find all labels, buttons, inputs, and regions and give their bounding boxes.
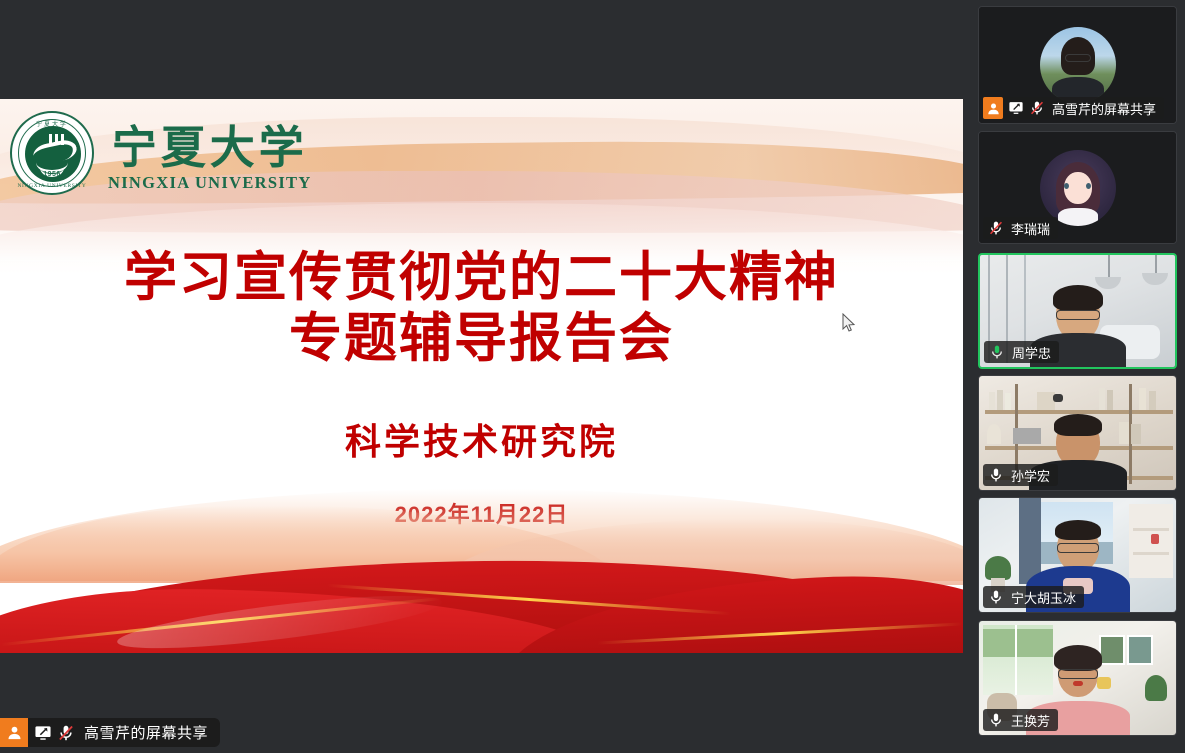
slide-title: 学习宣传贯彻党的二十大精神 专题辅导报告会 — [0, 247, 963, 370]
participant-name-bar: 孙学宏 — [983, 464, 1058, 486]
mic-muted-icon — [57, 724, 75, 742]
participant-name: 宁大胡玉冰 — [1011, 588, 1076, 607]
participant-name: 周学忠 — [1012, 343, 1051, 362]
participant-name-bar: 李瑞瑞 — [983, 217, 1058, 239]
participant-name: 李瑞瑞 — [1011, 219, 1050, 238]
screen-share-icon — [1007, 99, 1025, 117]
mic-muted-icon — [1028, 99, 1046, 117]
participant-name-bar: 高雪芹的屏幕共享 — [983, 97, 1164, 119]
slide-bottom-decoration — [0, 453, 963, 653]
participant-tile-wanghuanfang[interactable]: 王换芳 — [978, 620, 1177, 736]
avatar — [1040, 27, 1116, 103]
slide-title-line-1: 学习宣传贯彻党的二十大精神 — [0, 247, 963, 308]
seal-arc-text: NINGXIA UNIVERSITY — [12, 183, 92, 189]
participant-tile-liruirui[interactable]: 李瑞瑞 — [978, 131, 1177, 244]
participant-tile-huyubing[interactable]: 宁大胡玉冰 — [978, 497, 1177, 613]
avatar — [1040, 150, 1116, 226]
participant-tile-zhouxuezhong[interactable]: 周学忠 — [978, 253, 1177, 369]
university-name-en: NINGXIA UNIVERSITY — [108, 173, 312, 193]
participant-name: 王换芳 — [1011, 711, 1050, 730]
screen-share-status-bar[interactable]: 高雪芹的屏幕共享 — [0, 718, 220, 747]
participant-tile-gaoxueqin[interactable]: 高雪芹的屏幕共享 — [978, 6, 1177, 124]
participant-name-bar: 宁大胡玉冰 — [983, 586, 1084, 608]
shared-screen-stage[interactable]: 宁夏大学 1956 NINGXIA UNIVERSITY 宁夏大学 NINGXI… — [0, 0, 963, 753]
participant-name-bar: 周学忠 — [984, 341, 1059, 363]
mic-muted-icon — [987, 219, 1005, 237]
university-seal-icon: 宁夏大学 1956 NINGXIA UNIVERSITY — [10, 111, 94, 195]
participant-name: 高雪芹的屏幕共享 — [1052, 99, 1156, 118]
participant-name-bar: 王换芳 — [983, 709, 1058, 731]
meeting-window: 宁夏大学 1956 NINGXIA UNIVERSITY 宁夏大学 NINGXI… — [0, 0, 1185, 753]
screen-share-owner-label: 高雪芹的屏幕共享 — [84, 722, 208, 743]
seal-year: 1956 — [12, 171, 92, 178]
screen-share-icon — [34, 724, 52, 742]
mic-icon — [987, 588, 1005, 606]
mic-icon — [987, 711, 1005, 729]
slide-title-line-2: 专题辅导报告会 — [0, 308, 963, 369]
mic-icon — [987, 466, 1005, 484]
presentation-slide: 宁夏大学 1956 NINGXIA UNIVERSITY 宁夏大学 NINGXI… — [0, 99, 963, 653]
university-name-cn: 宁夏大学 — [112, 125, 308, 172]
host-person-icon — [0, 718, 28, 747]
seal-arc-top: 宁夏大学 — [12, 119, 92, 128]
seal-inner-disc — [25, 126, 81, 182]
participant-tile-sunxuehong[interactable]: 孙学宏 — [978, 375, 1177, 491]
mic-active-icon — [988, 343, 1006, 361]
university-logo: 宁夏大学 1956 NINGXIA UNIVERSITY 宁夏大学 NINGXI… — [10, 111, 312, 195]
participant-rail[interactable]: 高雪芹的屏幕共享 — [978, 0, 1185, 753]
host-person-icon — [983, 97, 1003, 119]
participant-name: 孙学宏 — [1011, 466, 1050, 485]
